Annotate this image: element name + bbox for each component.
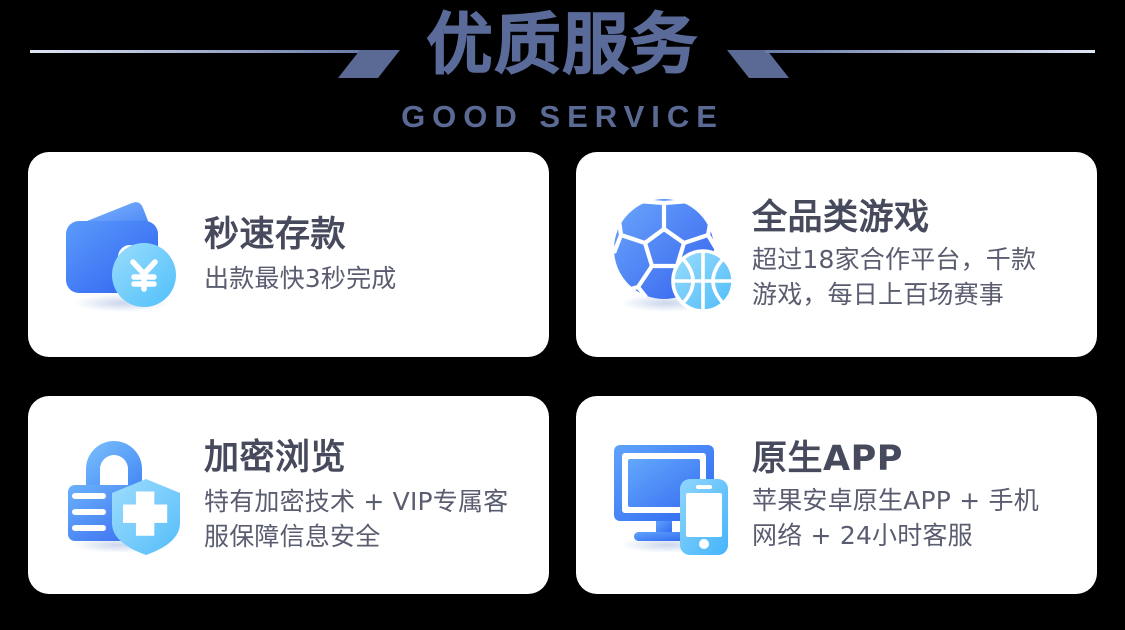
card-description: 苹果安卓原生APP + 手机 网络 + 24小时客服 [752,483,1083,553]
sports-ball-icon [608,191,736,319]
wallet-icon [60,191,188,319]
page-subtitle: GOOD SERVICE [0,100,1125,134]
card-text: 加密浏览 特有加密技术 + VIP专属客 服保障信息安全 [204,437,549,554]
feature-card-instant-deposit[interactable]: 秒速存款 出款最快3秒完成 [28,152,549,357]
card-description: 超过18家合作平台，千款 游戏，每日上百场赛事 [752,242,1083,312]
feature-card-native-app[interactable]: 原生APP 苹果安卓原生APP + 手机 网络 + 24小时客服 [576,396,1097,594]
card-text: 全品类游戏 超过18家合作平台，千款 游戏，每日上百场赛事 [752,197,1097,312]
card-title: 全品类游戏 [752,197,1083,240]
card-description: 出款最快3秒完成 [204,261,535,296]
page-title: 优质服务 [0,8,1125,82]
card-title: 加密浏览 [204,437,535,480]
card-title: 秒速存款 [204,214,535,257]
lock-shield-icon [60,431,188,559]
header: 优质服务 GOOD SERVICE [0,0,1125,146]
card-text: 秒速存款 出款最快3秒完成 [204,214,549,296]
feature-card-all-game-categories[interactable]: 全品类游戏 超过18家合作平台，千款 游戏，每日上百场赛事 [576,152,1097,357]
feature-card-encrypted-browsing[interactable]: 加密浏览 特有加密技术 + VIP专属客 服保障信息安全 [28,396,549,594]
card-description: 特有加密技术 + VIP专属客 服保障信息安全 [204,484,535,554]
card-text: 原生APP 苹果安卓原生APP + 手机 网络 + 24小时客服 [752,438,1097,553]
monitor-phone-icon [608,431,736,559]
card-title: 原生APP [752,438,1083,481]
feature-card-grid: 秒速存款 出款最快3秒完成 [28,152,1097,604]
promo-banner: 优质服务 GOOD SERVICE [0,0,1125,630]
